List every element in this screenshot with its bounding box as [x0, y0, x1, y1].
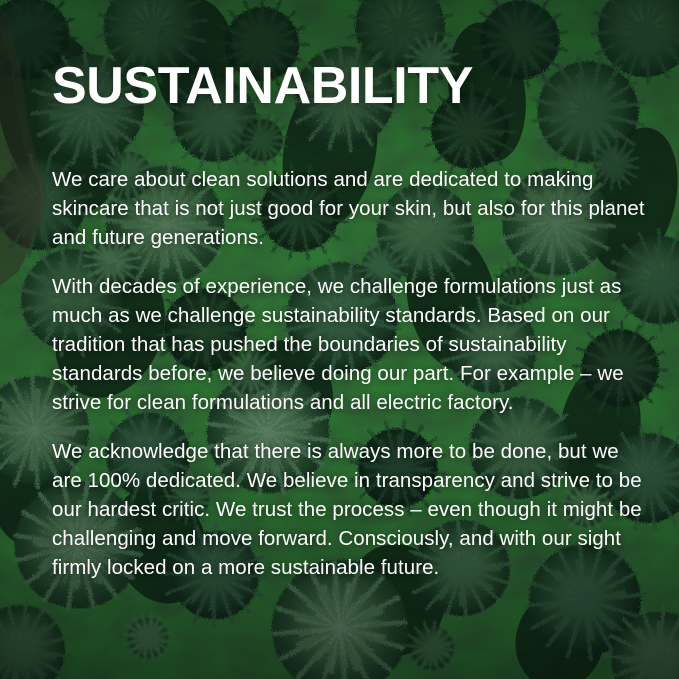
paragraph-2: With decades of experience, we challenge… [52, 272, 647, 418]
poster-content: SUSTAINABILITY We care about clean solut… [52, 0, 652, 679]
page-title: SUSTAINABILITY [52, 57, 473, 115]
paragraph-3: We acknowledge that there is always more… [52, 437, 647, 583]
paragraph-1: We care about clean solutions and are de… [52, 165, 647, 253]
sustainability-poster: SUSTAINABILITY We care about clean solut… [0, 0, 679, 679]
body-copy: We care about clean solutions and are de… [52, 165, 647, 583]
